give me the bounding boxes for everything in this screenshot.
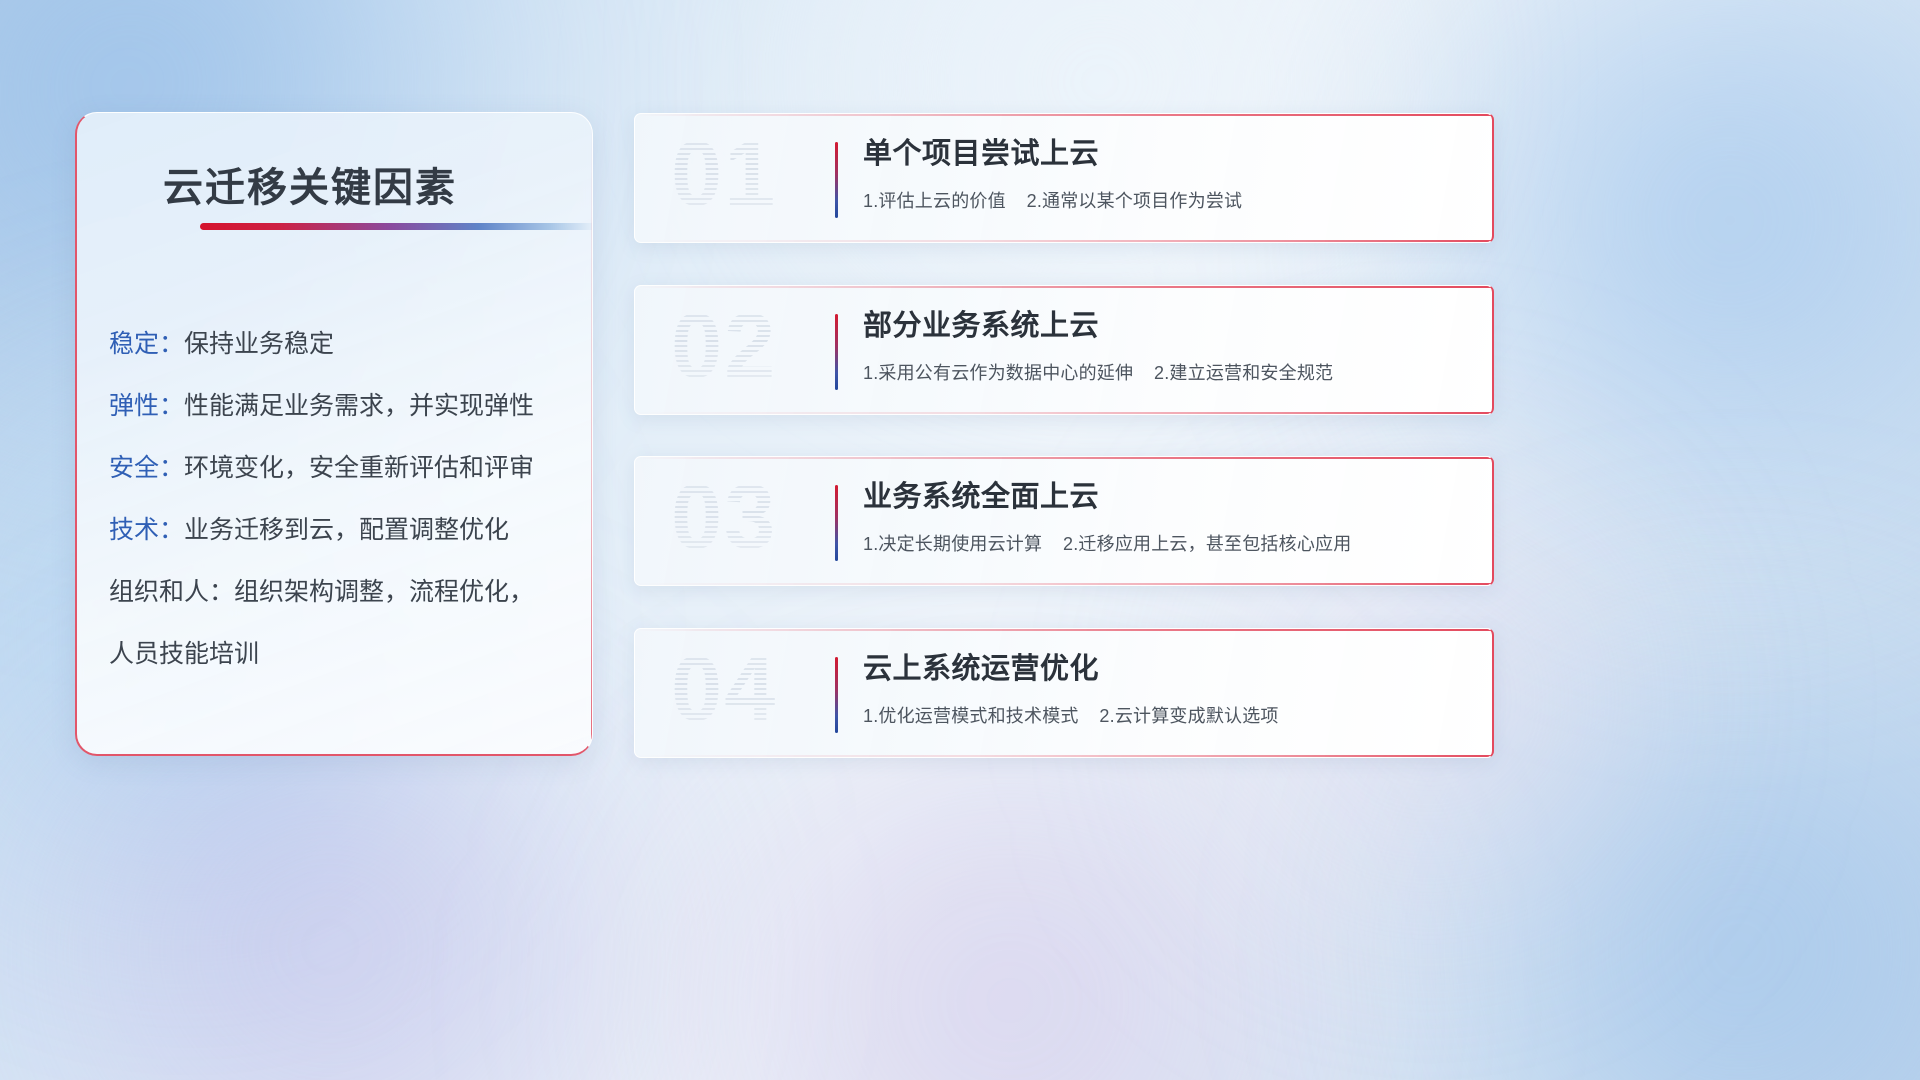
- factor-value: 环境变化，安全重新评估和评审: [184, 454, 534, 482]
- factor-key: 组织和人：: [109, 578, 234, 606]
- step-card-03[interactable]: 03 业务系统全面上云 1.决定长期使用云计算 2.迁移应用上云，甚至包括核心应…: [634, 456, 1494, 586]
- step-number-text: 01: [671, 123, 777, 225]
- step-number-text: 04: [671, 638, 777, 740]
- step-accent-divider: [835, 657, 838, 733]
- key-factors-panel: 云迁移关键因素 稳定：保持业务稳定 弹性：性能满足业务需求，并实现弹性 安全：环…: [75, 112, 593, 756]
- step-title: 单个项目尝试上云: [863, 136, 1462, 174]
- step-title: 云上系统运营优化: [863, 651, 1462, 689]
- step-number-text: 03: [671, 466, 777, 568]
- factor-value: 人员技能培训: [109, 640, 259, 668]
- list-item: 安全：环境变化，安全重新评估和评审: [109, 437, 568, 499]
- list-item: 弹性：性能满足业务需求，并实现弹性: [109, 375, 568, 437]
- factor-key: 弹性：: [109, 392, 184, 420]
- step-accent-divider: [835, 485, 838, 561]
- factor-key: 技术：: [109, 516, 184, 544]
- key-factors-list: 稳定：保持业务稳定 弹性：性能满足业务需求，并实现弹性 安全：环境变化，安全重新…: [109, 313, 568, 685]
- factor-value: 业务迁移到云，配置调整优化: [184, 516, 509, 544]
- factor-value: 性能满足业务需求，并实现弹性: [184, 392, 534, 420]
- step-description: 1.决定长期使用云计算 2.迁移应用上云，甚至包括核心应用: [863, 530, 1462, 556]
- list-item: 组织和人：组织架构调整，流程优化，: [109, 561, 568, 623]
- step-content: 单个项目尝试上云 1.评估上云的价值 2.通常以某个项目作为尝试: [863, 136, 1462, 213]
- step-content: 云上系统运营优化 1.优化运营模式和技术模式 2.云计算变成默认选项: [863, 651, 1462, 728]
- factor-key: 安全：: [109, 454, 184, 482]
- step-description: 1.评估上云的价值 2.通常以某个项目作为尝试: [863, 187, 1462, 213]
- step-number-01: 01: [671, 128, 777, 220]
- slide-stage: 云迁移关键因素 稳定：保持业务稳定 弹性：性能满足业务需求，并实现弹性 安全：环…: [0, 0, 1920, 1080]
- list-item: 技术：业务迁移到云，配置调整优化: [109, 499, 568, 561]
- step-number-text: 02: [671, 295, 777, 397]
- factor-value: 保持业务稳定: [184, 330, 334, 358]
- step-card-02[interactable]: 02 部分业务系统上云 1.采用公有云作为数据中心的延伸 2.建立运营和安全规范: [634, 285, 1494, 415]
- factor-key: 稳定：: [109, 330, 184, 358]
- step-content: 部分业务系统上云 1.采用公有云作为数据中心的延伸 2.建立运营和安全规范: [863, 308, 1462, 385]
- step-number-02: 02: [671, 300, 777, 392]
- step-accent-divider: [835, 314, 838, 390]
- step-description: 1.采用公有云作为数据中心的延伸 2.建立运营和安全规范: [863, 359, 1462, 385]
- step-number-03: 03: [671, 471, 777, 563]
- step-accent-divider: [835, 142, 838, 218]
- step-card-01[interactable]: 01 单个项目尝试上云 1.评估上云的价值 2.通常以某个项目作为尝试: [634, 113, 1494, 243]
- step-description: 1.优化运营模式和技术模式 2.云计算变成默认选项: [863, 702, 1462, 728]
- step-card-04[interactable]: 04 云上系统运营优化 1.优化运营模式和技术模式 2.云计算变成默认选项: [634, 628, 1494, 758]
- panel-title: 云迁移关键因素: [163, 155, 457, 213]
- step-title: 业务系统全面上云: [863, 479, 1462, 517]
- step-content: 业务系统全面上云 1.决定长期使用云计算 2.迁移应用上云，甚至包括核心应用: [863, 479, 1462, 556]
- list-item: 稳定：保持业务稳定: [109, 313, 568, 375]
- title-underline-gradient: [200, 223, 593, 230]
- factor-value: 组织架构调整，流程优化，: [234, 578, 534, 606]
- step-title: 部分业务系统上云: [863, 308, 1462, 346]
- step-number-04: 04: [671, 643, 777, 735]
- list-item: 人员技能培训: [109, 623, 568, 685]
